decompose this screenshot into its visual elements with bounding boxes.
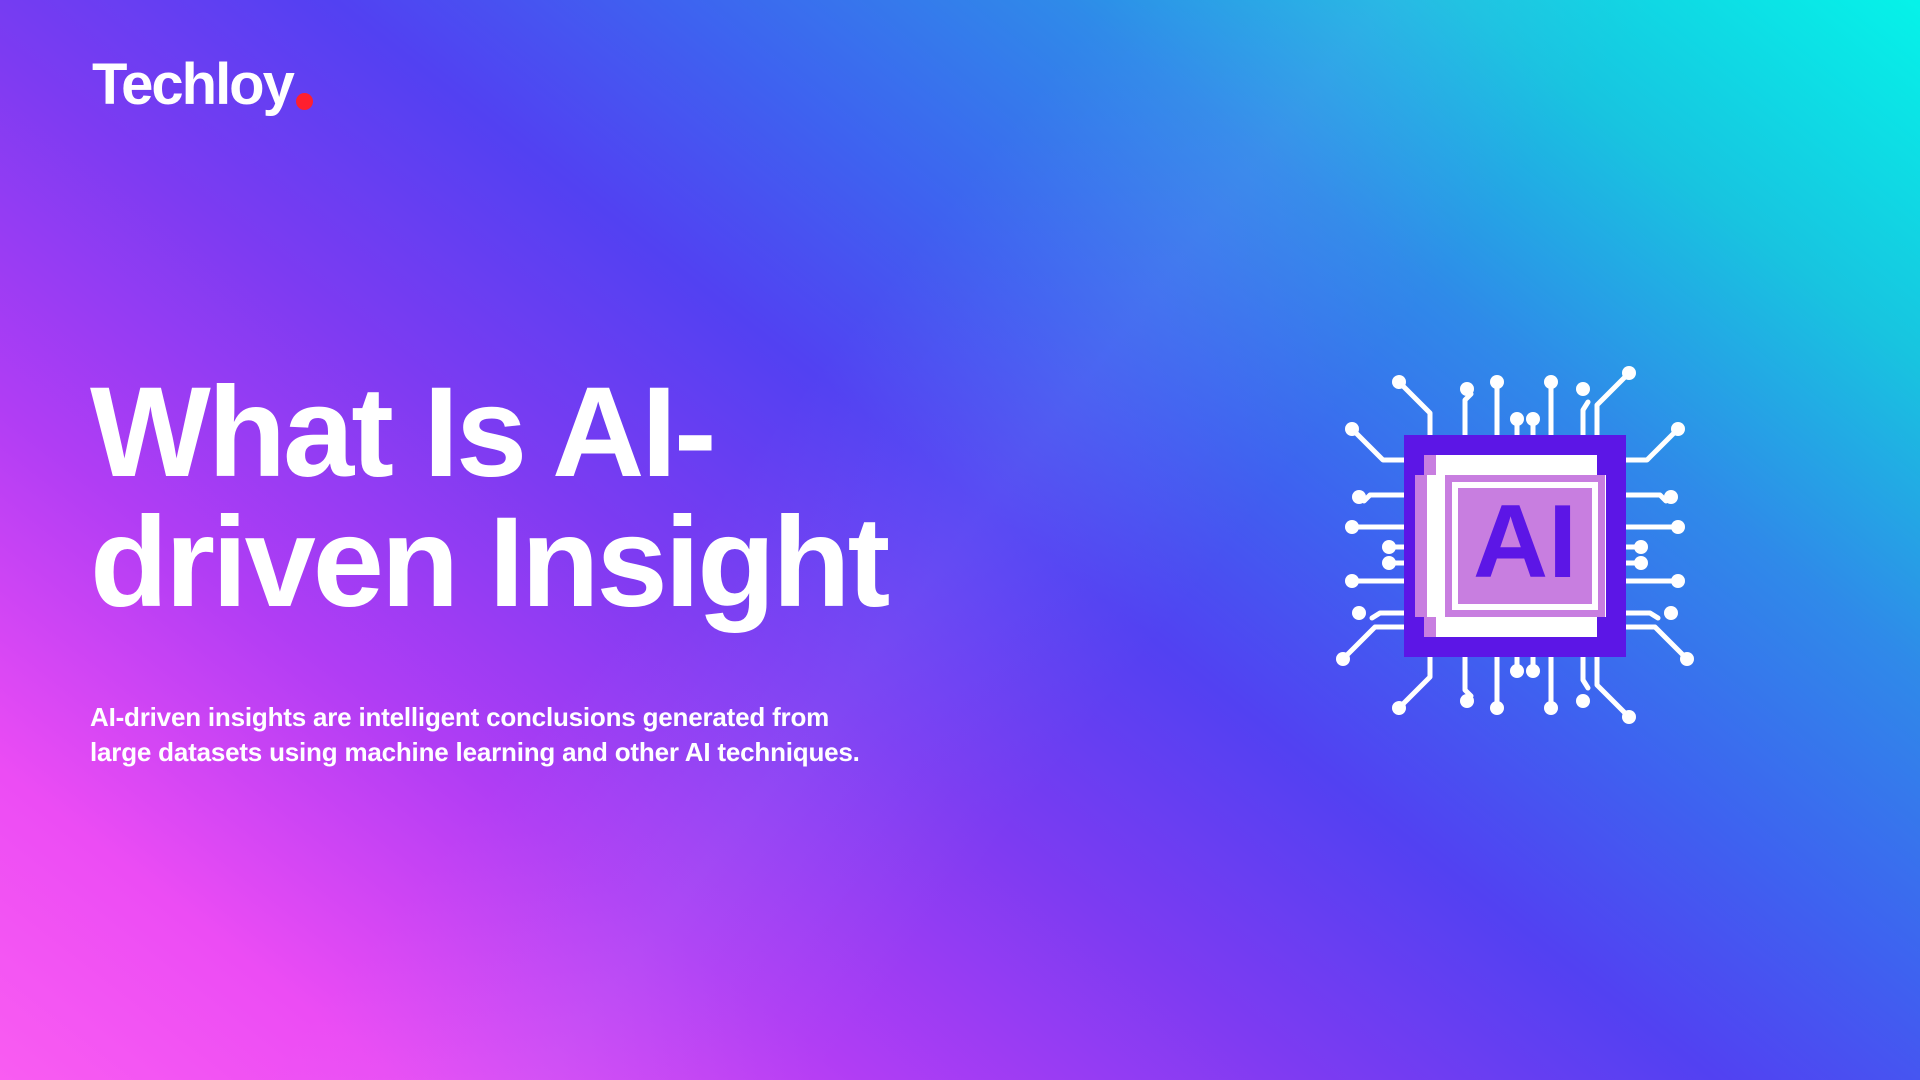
chip-label-ai: AI (1473, 484, 1577, 600)
ai-chip-icon: AI (1295, 325, 1735, 765)
page-subtitle: AI-driven insights are intelligent concl… (90, 700, 990, 769)
page-title-line-2: driven Insight (90, 498, 1070, 629)
techloy-logo[interactable]: Techloy (92, 56, 313, 114)
page-title-line-1: What Is AI- (90, 361, 714, 504)
page-subtitle-line-1: AI-driven insights are intelligent concl… (90, 700, 990, 735)
page-title: What Is AI- driven Insight (90, 368, 1070, 629)
poster-canvas: Techloy What Is AI- driven Insight AI-dr… (0, 0, 1920, 1080)
logo-wordmark: Techloy (92, 56, 293, 114)
page-subtitle-line-2: large datasets using machine learning an… (90, 735, 990, 770)
logo-dot-icon (296, 93, 313, 110)
